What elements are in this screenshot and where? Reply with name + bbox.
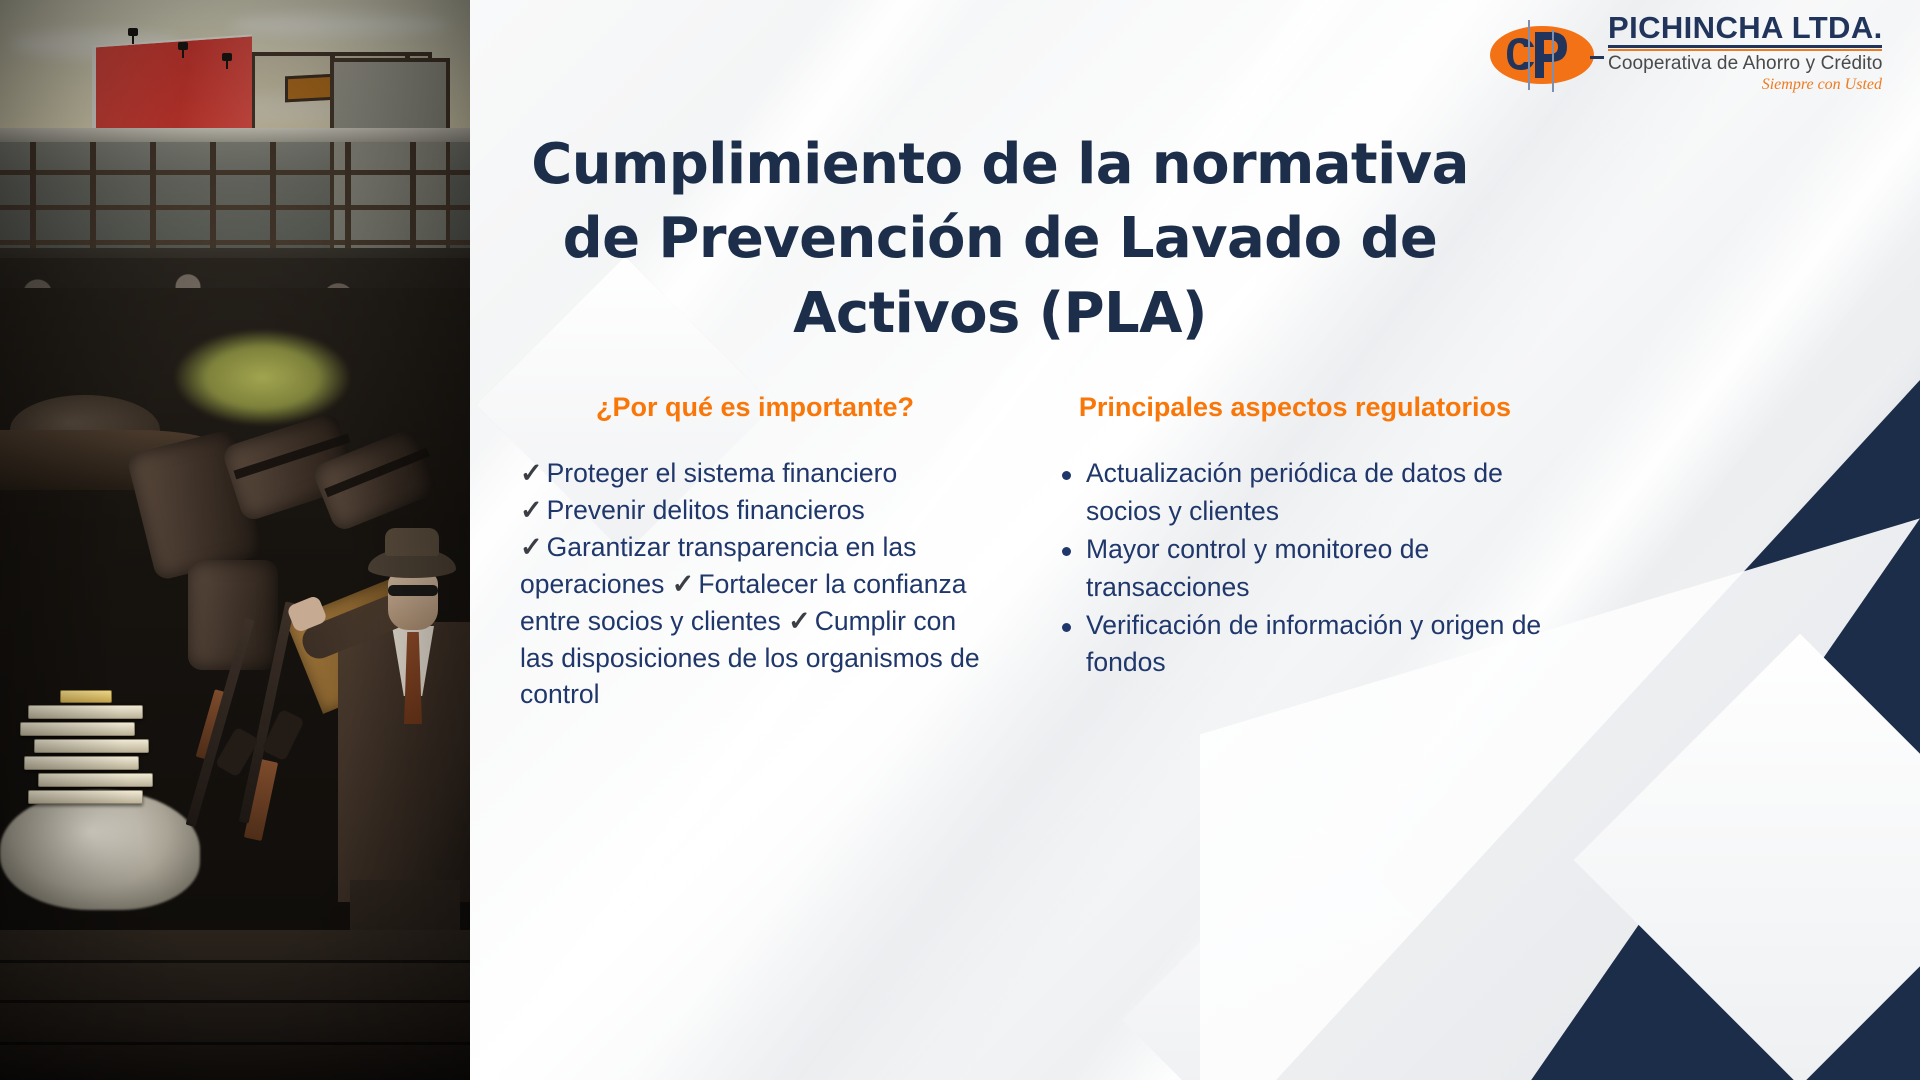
- list-item: Verificación de información y origen de …: [1086, 607, 1550, 683]
- plank-seam: [0, 1000, 470, 1003]
- logo-title: PICHINCHA LTDA.: [1608, 12, 1882, 43]
- title-line-1: Cumplimiento de la normativa: [520, 128, 1480, 202]
- plank-seam: [0, 1042, 470, 1045]
- illustration-image: [0, 0, 470, 1080]
- window-mullion: [270, 142, 276, 262]
- brand-logo: PICHINCHA LTDA. Cooperativa de Ahorro y …: [1490, 8, 1882, 108]
- window-mullion: [90, 142, 96, 262]
- logo-text-block: PICHINCHA LTDA. Cooperativa de Ahorro y …: [1608, 12, 1882, 94]
- left-column: ¿Por qué es importante? ✓Proteger el sis…: [520, 392, 990, 713]
- page-title: Cumplimiento de la normativa de Prevenci…: [520, 128, 1480, 351]
- logo-rule-orange: [1608, 49, 1882, 51]
- list-item: Mayor control y monitoreo de transaccion…: [1086, 531, 1550, 607]
- right-column-heading: Principales aspectos regulatorios: [1040, 392, 1550, 423]
- slide: PICHINCHA LTDA. Cooperativa de Ahorro y …: [0, 0, 1920, 1080]
- right-column: Principales aspectos regulatorios Actual…: [1040, 392, 1550, 682]
- moss-glow: [175, 330, 350, 425]
- money-stack: [28, 790, 143, 804]
- list-item-label: Prevenir delitos financieros: [547, 495, 865, 525]
- list-item: Actualización periódica de datos de soci…: [1086, 455, 1550, 531]
- figure-face: [388, 572, 438, 630]
- money-stack: [34, 739, 149, 753]
- barrel: [188, 560, 278, 670]
- list-item: ✓Prevenir delitos financieros: [520, 495, 865, 525]
- list-item: ✓Proteger el sistema financiero: [520, 458, 897, 488]
- floor-planks: [0, 930, 470, 1080]
- left-column-heading: ¿Por qué es importante?: [520, 392, 990, 423]
- window-mullion: [345, 142, 351, 262]
- money-stack: [24, 756, 139, 770]
- check-icon: ✓: [788, 606, 811, 636]
- lamp-arm: [182, 50, 184, 58]
- check-icon: ✓: [520, 532, 543, 562]
- billboard-lamp: [128, 28, 138, 36]
- gold-bar: [60, 690, 112, 703]
- check-icon: ✓: [520, 458, 543, 488]
- window-mullion: [0, 205, 470, 210]
- window-mullion: [0, 170, 470, 175]
- billboard-lamp: [178, 42, 188, 50]
- sunglasses-icon: [388, 585, 438, 596]
- lamp-arm: [226, 61, 228, 69]
- window-mullion: [210, 142, 216, 262]
- window-mullion: [30, 142, 36, 262]
- window-mullion: [0, 240, 470, 245]
- title-line-3: Activos (PLA): [520, 277, 1480, 351]
- check-icon: ✓: [520, 495, 543, 525]
- logo-subtitle: Cooperativa de Ahorro y Crédito: [1608, 53, 1882, 75]
- title-line-2: de Prevención de Lavado de: [520, 202, 1480, 276]
- window-mullion: [410, 142, 416, 262]
- figure-hat-crown: [385, 528, 439, 556]
- window-mullion: [150, 142, 156, 262]
- cloud: [230, 14, 450, 36]
- logo-rule-navy: [1608, 45, 1882, 48]
- checklist: ✓Proteger el sistema financiero ✓Preveni…: [520, 455, 990, 713]
- pichincha-logo-mark-icon: [1490, 16, 1608, 94]
- money-stack: [20, 722, 135, 736]
- regulatory-bullet-list: Actualización periódica de datos de soci…: [1040, 455, 1550, 682]
- building-ledge: [0, 128, 470, 142]
- check-icon: ✓: [672, 569, 695, 599]
- money-stack: [38, 773, 153, 787]
- list-item-label: Proteger el sistema financiero: [547, 458, 898, 488]
- logo-tagline: Siempre con Usted: [1608, 76, 1882, 94]
- plank-seam: [0, 960, 470, 963]
- billboard-lamp: [222, 53, 232, 61]
- lamp-arm: [132, 36, 134, 44]
- cash-sack: [0, 790, 200, 910]
- money-stack: [28, 705, 143, 719]
